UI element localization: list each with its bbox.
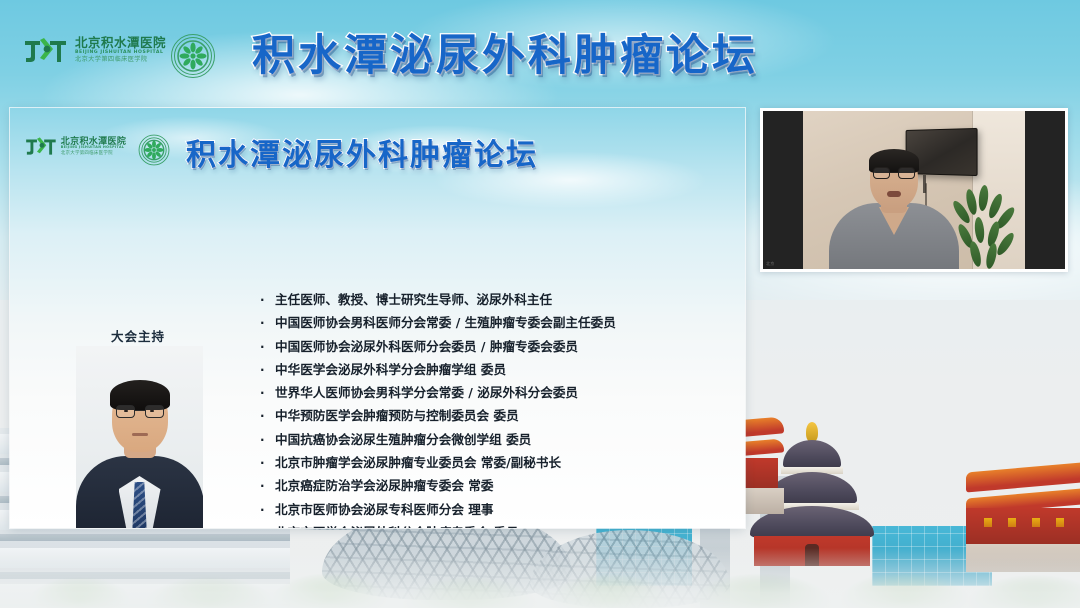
potted-plant-icon (953, 183, 1019, 269)
slide-hospital-logo-text: 北京积水潭医院 BEIJING JISHUITAN HOSPITAL 北京大学第… (61, 136, 127, 156)
list-item: · 中国医师协会男科医师分会常委 / 生殖肿瘤专委会副主任委员 (260, 317, 730, 340)
credentials-list: · 主任医师、教授、博士研究生导师、泌尿外科主任 · 中国医师协会男科医师分会常… (260, 294, 730, 528)
list-item: · 中国医师协会泌尿外科医师分会委员 / 肿瘤专委会委员 (260, 341, 730, 364)
list-item-label: 北京市肿瘤学会泌尿肿瘤专业委员会 常委/副秘书长 (275, 457, 561, 470)
hospital-affiliation-cn: 北京大学第四临床医学院 (75, 57, 166, 64)
list-item-label: 中国医师协会男科医师分会常委 / 生殖肿瘤专委会副主任委员 (275, 317, 616, 330)
list-item: · 北京市医学会泌尿外科分会肿瘤专委会 委员 (260, 527, 730, 528)
list-item-label: 中华医学会泌尿外科学分会肿瘤学组 委员 (275, 364, 506, 377)
slide-hospital-logo: 北京积水潭医院 BEIJING JISHUITAN HOSPITAL 北京大学第… (24, 136, 126, 156)
bullet-icon: · (260, 317, 266, 329)
list-item-label: 世界华人医师协会男科学分会常委 / 泌尿外科分会委员 (275, 387, 578, 400)
bullet-icon: · (260, 410, 266, 422)
list-item: · 北京癌症防治学会泌尿肿瘤专委会 常委 (260, 480, 730, 503)
green-circular-flower-seal-icon (138, 134, 170, 170)
bullet-icon: · (260, 434, 266, 446)
page-header: 北京积水潭医院 BEIJING JISHUITAN HOSPITAL 北京大学第… (0, 0, 1080, 95)
list-item: · 北京市医师协会泌尿专科医师分会 理事 (260, 504, 730, 527)
host-role-label: 大会主持 (78, 326, 198, 345)
hospital-name-cn: 北京积水潭医院 (61, 136, 127, 146)
list-item: · 世界华人医师协会男科学分会常委 / 泌尿外科分会委员 (260, 387, 730, 410)
page-title-text: 积水潭泌尿外科肿瘤论坛 (252, 31, 758, 81)
list-item-label: 北京市医师协会泌尿专科医师分会 理事 (275, 504, 493, 517)
hospital-name-en: BEIJING JISHUITAN HOSPITAL (75, 51, 166, 56)
list-item: · 主任医师、教授、博士研究生导师、泌尿外科主任 (260, 294, 730, 317)
slide-title-text: 积水潭泌尿外科肿瘤论坛 (186, 138, 538, 173)
list-item: · 中国抗癌协会泌尿生殖肿瘤分会微创学组 委员 (260, 434, 730, 457)
bullet-icon: · (260, 341, 266, 353)
hospital-logo: 北京积水潭医院 BEIJING JISHUITAN HOSPITAL 北京大学第… (22, 36, 166, 64)
list-item: · 中华医学会泌尿外科学分会肿瘤学组 委员 (260, 364, 730, 387)
bullet-icon: · (260, 364, 266, 376)
list-item-label: 北京癌症防治学会泌尿肿瘤专委会 常委 (275, 480, 493, 493)
participant-glasses (873, 167, 915, 179)
page-title: 积水潭泌尿外科肿瘤论坛 (252, 21, 758, 83)
slide-header: 北京积水潭医院 BEIJING JISHUITAN HOSPITAL 北京大学第… (10, 108, 745, 178)
bullet-icon: · (260, 527, 266, 528)
hospital-name-cn: 北京积水潭医院 (75, 36, 166, 50)
video-participant-tile[interactable]: 北京 (760, 108, 1068, 272)
list-item-label: 中华预防医学会肿瘤预防与控制委员会 委员 (275, 410, 519, 423)
list-item: · 北京市肿瘤学会泌尿肿瘤专业委员会 常委/副秘书长 (260, 457, 730, 480)
bullet-icon: · (260, 504, 266, 516)
jst-monogram-icon (22, 36, 68, 64)
list-item: · 中华预防医学会肿瘤预防与控制委员会 委员 (260, 410, 730, 433)
video-room-scene (803, 111, 1025, 269)
slide-title: 积水潭泌尿外科肿瘤论坛 (186, 130, 538, 174)
video-watermark: 北京 (766, 262, 775, 266)
host-portrait-photo (76, 346, 203, 528)
video-participant-avatar (829, 149, 959, 269)
video-pillarbox-right (1025, 111, 1065, 269)
bullet-icon: · (260, 457, 266, 469)
jst-monogram-icon (24, 136, 57, 156)
portrait-glasses (116, 405, 164, 418)
shared-slide[interactable]: 北京积水潭医院 BEIJING JISHUITAN HOSPITAL 北京大学第… (10, 108, 745, 528)
list-item-label: 北京市医学会泌尿外科分会肿瘤专委会 委员 (275, 527, 519, 528)
green-circular-flower-seal-icon (170, 33, 216, 83)
list-item-label: 主任医师、教授、博士研究生导师、泌尿外科主任 (275, 294, 552, 307)
screen-root: 北京积水潭医院 BEIJING JISHUITAN HOSPITAL 北京大学第… (0, 0, 1080, 608)
hospital-logo-text: 北京积水潭医院 BEIJING JISHUITAN HOSPITAL 北京大学第… (75, 36, 166, 64)
list-item-label: 中国医师协会泌尿外科医师分会委员 / 肿瘤专委会委员 (275, 341, 578, 354)
bullet-icon: · (260, 387, 266, 399)
video-feed[interactable]: 北京 (763, 111, 1065, 269)
bullet-icon: · (260, 294, 266, 306)
video-pillarbox-left (763, 111, 803, 269)
bottom-haze-overlay (0, 548, 1080, 608)
hospital-affiliation-cn: 北京大学第四临床医学院 (61, 151, 127, 156)
list-item-label: 中国抗癌协会泌尿生殖肿瘤分会微创学组 委员 (275, 434, 531, 447)
bullet-icon: · (260, 480, 266, 492)
